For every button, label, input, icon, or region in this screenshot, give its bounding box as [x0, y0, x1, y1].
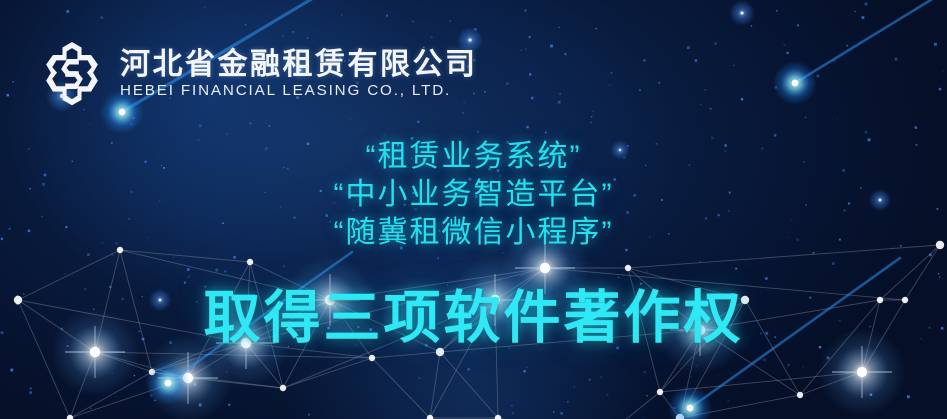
promo-banner: 河北省金融租赁有限公司 HEBEI FINANCIAL LEASING CO.,… — [0, 0, 947, 419]
product-line-1: “租赁业务系统” — [0, 138, 947, 176]
company-name-en: HEBEI FINANCIAL LEASING CO., LTD. — [120, 82, 478, 99]
hebei-financial-leasing-logo-mark-icon — [38, 40, 106, 108]
product-line-3: “随冀租微信小程序” — [0, 214, 947, 252]
company-logo: 河北省金融租赁有限公司 HEBEI FINANCIAL LEASING CO.,… — [38, 40, 478, 108]
logo-text-block: 河北省金融租赁有限公司 HEBEI FINANCIAL LEASING CO.,… — [120, 49, 478, 100]
product-name-list: “租赁业务系统” “中小业务智造平台” “随冀租微信小程序” — [0, 138, 947, 252]
company-name-cn: 河北省金融租赁有限公司 — [120, 49, 478, 81]
product-line-2: “中小业务智造平台” — [0, 176, 947, 214]
headline-text: 取得三项软件著作权 — [0, 285, 947, 351]
